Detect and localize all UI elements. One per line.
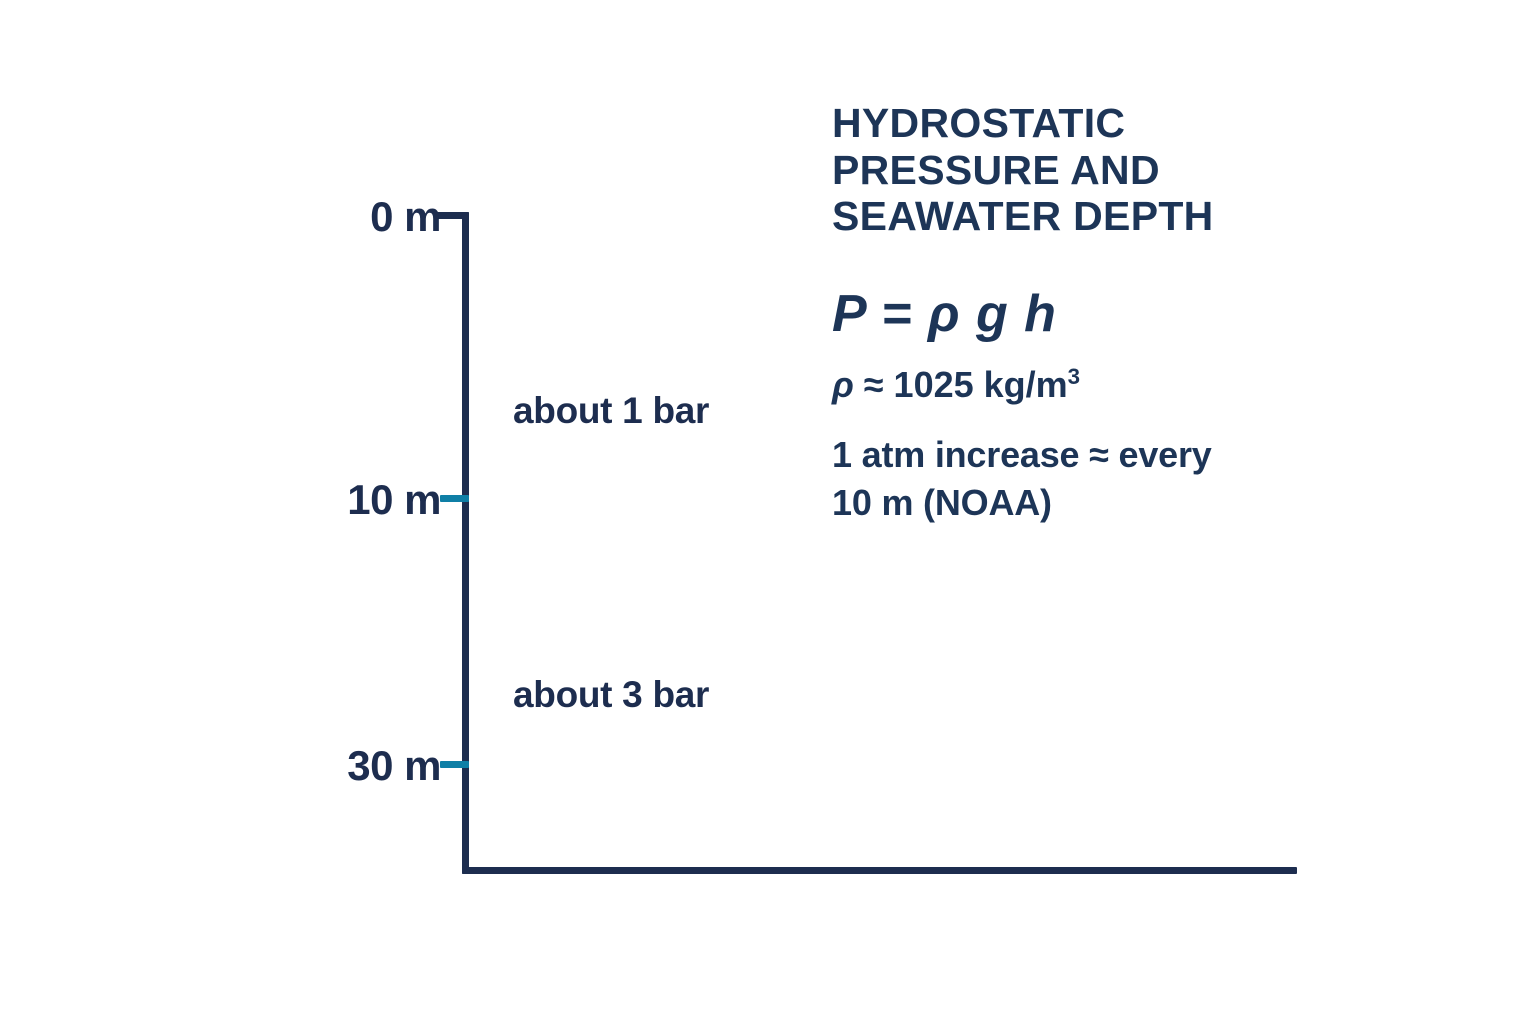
density-value: ≈ 1025 kg/m — [854, 364, 1068, 405]
tick-30m — [440, 761, 469, 768]
depth-label-0m: 0 m — [370, 196, 441, 238]
tick-10m — [440, 495, 469, 502]
depth-label-10m: 10 m — [347, 479, 441, 521]
tick-0m — [437, 212, 469, 219]
pressure-label-3bar: about 3 bar — [513, 676, 709, 713]
baseline-axis-line — [462, 867, 1297, 874]
figure-canvas: 0 m 10 m 30 m about 1 bar about 3 bar HY… — [0, 0, 1536, 1024]
noaa-note: 1 atm increase ≈ every 10 m (NOAA) — [832, 403, 1392, 527]
depth-axis-line — [462, 212, 469, 874]
depth-label-30m: 30 m — [347, 745, 441, 787]
pressure-label-1bar: about 1 bar — [513, 392, 709, 429]
density-line: ρ ≈ 1025 kg/m3 — [832, 340, 1392, 403]
figure-title: HYDROSTATIC PRESSURE AND SEAWATER DEPTH — [832, 100, 1392, 240]
density-exponent: 3 — [1068, 364, 1080, 389]
pressure-formula: P = ρ g h — [832, 240, 1392, 340]
rho-symbol: ρ — [832, 364, 854, 405]
info-panel: HYDROSTATIC PRESSURE AND SEAWATER DEPTH … — [832, 100, 1392, 528]
